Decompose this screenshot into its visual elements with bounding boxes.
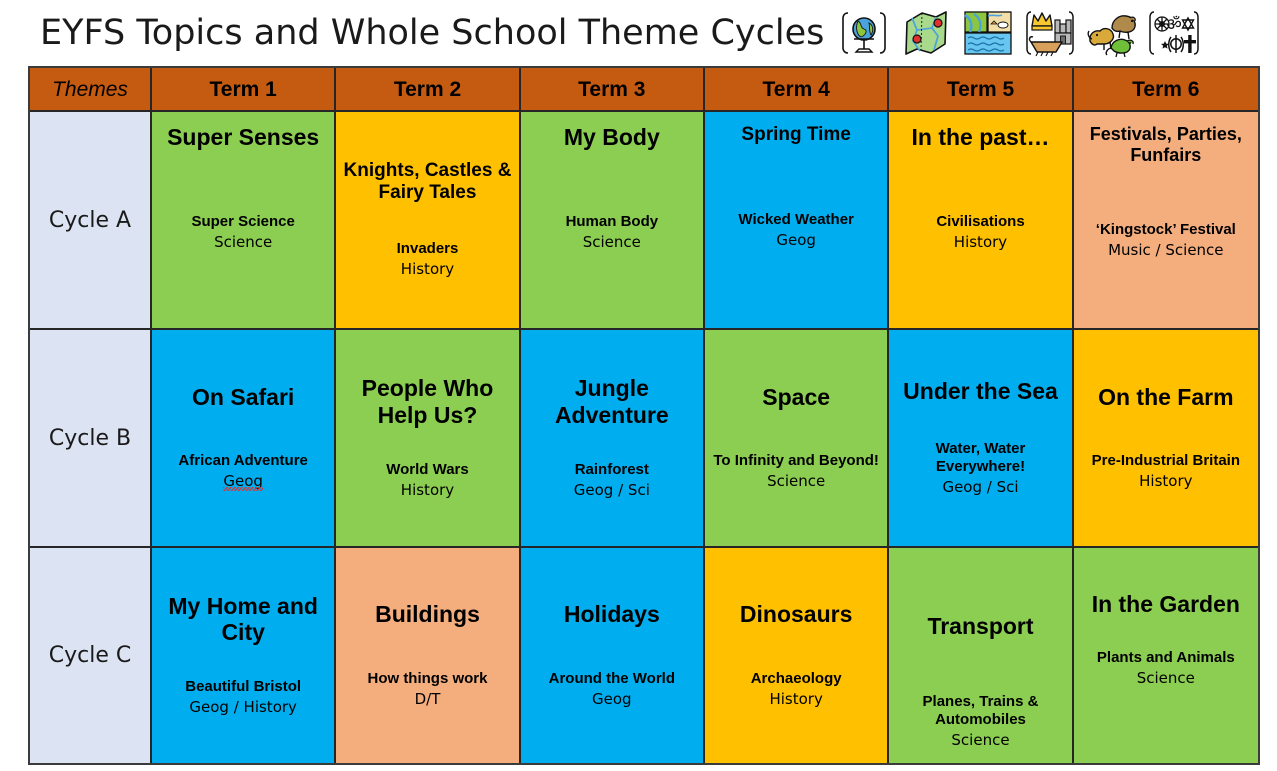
row-header-cycle-b: Cycle B [30,330,152,548]
topic-cell-c-term-6[interactable]: In the Garden Plants and Animals Science [1074,548,1258,763]
topic-icon-strip: ॐ [836,8,1202,58]
column-header-term-6: Term 6 [1074,68,1258,112]
rivers-coasts-icon [960,8,1016,58]
topic-subject: History [1080,472,1252,490]
row-header-cycle-c: Cycle C [30,548,152,763]
topic-subject: Geog / Sci [527,481,697,499]
topic-subject: Geog [527,690,697,708]
topic-subtitle: Water, Water Everywhere! [895,440,1065,476]
topic-title: Under the Sea [895,378,1065,405]
column-header-term-5: Term 5 [889,68,1073,112]
row-header-cycle-a: Cycle A [30,112,152,330]
religions-icon: ॐ [1146,8,1202,58]
topic-subtitle: How things work [342,670,512,688]
map-icon [898,8,954,58]
themes-label: Themes [52,79,128,100]
cycle-label: Cycle B [49,426,131,451]
topic-subtitle: Beautiful Bristol [158,678,328,696]
table-corner-header: Themes [30,68,152,112]
topic-subtitle: To Infinity and Beyond! [711,452,881,470]
cycle-label: Cycle A [49,208,131,233]
svg-text:ॐ: ॐ [1167,15,1183,35]
topic-cell-b-term-6[interactable]: On the Farm Pre-Industrial Britain Histo… [1074,330,1258,548]
topic-subtitle: Rainforest [527,461,697,479]
cycle-label: Cycle C [49,643,131,668]
topic-subtitle: Super Science [158,213,328,231]
topic-title: Dinosaurs [711,601,881,628]
topic-subtitle: World Wars [342,461,512,479]
topic-title: In the Garden [1080,591,1252,618]
topic-title: Knights, Castles & Fairy Tales [342,160,512,204]
page-title: EYFS Topics and Whole School Theme Cycle… [40,16,824,51]
topic-subject: Science [158,233,328,251]
column-header-term-3: Term 3 [521,68,705,112]
topic-subtitle: Plants and Animals [1080,649,1252,667]
topic-title: On Safari [158,384,328,411]
topic-cell-a-term-5[interactable]: In the past… Civilisations History [889,112,1073,330]
topic-subject: History [342,481,512,499]
topic-title: Super Senses [158,124,328,151]
topic-title: On the Farm [1080,384,1252,411]
castle-vikings-icon [1022,8,1078,58]
topic-subject: Geog / Sci [895,478,1065,496]
theme-cycles-table: Themes Term 1 Term 2 Term 3 Term 4 Term … [28,66,1260,765]
topic-title: Buildings [342,601,512,628]
column-header-label: Term 3 [578,79,645,100]
topic-title: Holidays [527,601,697,628]
topic-subtitle: Archaeology [711,670,881,688]
globe-icon [836,8,892,58]
topic-cell-c-term-2[interactable]: Buildings How things work D/T [336,548,520,763]
topic-title: Spring Time [711,124,881,146]
topic-subtitle: Around the World [527,670,697,688]
topic-subtitle: Pre-Industrial Britain [1080,452,1252,470]
topic-subject: History [895,233,1065,251]
topic-title: My Home and City [158,593,328,646]
topic-cell-a-term-6[interactable]: Festivals, Parties, Funfairs ‘Kingstock’… [1074,112,1258,330]
topic-subtitle: Invaders [342,240,512,258]
topic-cell-b-term-5[interactable]: Under the Sea Water, Water Everywhere! G… [889,330,1073,548]
topic-subject: History [711,690,881,708]
topic-cell-b-term-4[interactable]: Space To Infinity and Beyond! Science [705,330,889,548]
column-header-label: Term 2 [394,79,461,100]
topic-cell-b-term-3[interactable]: Jungle Adventure Rainforest Geog / Sci [521,330,705,548]
topic-title: Transport [895,613,1065,640]
topic-subtitle: Wicked Weather [711,211,881,229]
topic-subject: Geog [711,231,881,249]
topic-subject: Science [1080,669,1252,687]
topic-title: In the past… [895,124,1065,151]
topic-cell-a-term-4[interactable]: Spring Time Wicked Weather Geog [705,112,889,330]
slide-canvas: EYFS Topics and Whole School Theme Cycle… [0,0,1277,771]
topic-cell-c-term-3[interactable]: Holidays Around the World Geog [521,548,705,763]
topic-subject: History [342,260,512,278]
column-header-term-4: Term 4 [705,68,889,112]
topic-cell-a-term-3[interactable]: My Body Human Body Science [521,112,705,330]
topic-title: People Who Help Us? [342,375,512,428]
topic-subject: Science [711,472,881,490]
topic-subtitle: ‘Kingstock’ Festival [1080,221,1252,239]
topic-subtitle: African Adventure [158,452,328,470]
topic-subject: Science [527,233,697,251]
title-bar: EYFS Topics and Whole School Theme Cycle… [0,0,1277,66]
topic-subject: D/T [342,690,512,708]
column-header-label: Term 6 [1132,79,1199,100]
column-header-label: Term 5 [947,79,1014,100]
topic-subtitle: Planes, Trains & Automobiles [895,693,1065,729]
topic-subject: Geog / History [158,698,328,716]
topic-subject: Music / Science [1080,241,1252,259]
topic-title: Space [711,384,881,411]
column-header-term-2: Term 2 [336,68,520,112]
topic-cell-c-term-1[interactable]: My Home and City Beautiful Bristol Geog … [152,548,336,763]
topic-title: My Body [527,124,697,151]
topic-title: Jungle Adventure [527,375,697,428]
topic-cell-a-term-1[interactable]: Super Senses Super Science Science [152,112,336,330]
column-header-term-1: Term 1 [152,68,336,112]
topic-cell-c-term-5[interactable]: Transport Planes, Trains & Automobiles S… [889,548,1073,763]
topic-subtitle: Civilisations [895,213,1065,231]
column-header-label: Term 1 [210,79,277,100]
topic-cell-b-term-1[interactable]: On Safari African Adventure Geog [152,330,336,548]
topic-cell-a-term-2[interactable]: Knights, Castles & Fairy Tales Invaders … [336,112,520,330]
topic-cell-b-term-2[interactable]: People Who Help Us? World Wars History [336,330,520,548]
topic-subtitle: Human Body [527,213,697,231]
column-header-label: Term 4 [763,79,830,100]
topic-subject: Geog [158,472,328,490]
topic-title: Festivals, Parties, Funfairs [1080,124,1252,166]
topic-cell-c-term-4[interactable]: Dinosaurs Archaeology History [705,548,889,763]
topic-subject: Science [895,731,1065,749]
misspelled-word: Geog [223,472,263,490]
dinosaurs-icon [1084,8,1140,58]
